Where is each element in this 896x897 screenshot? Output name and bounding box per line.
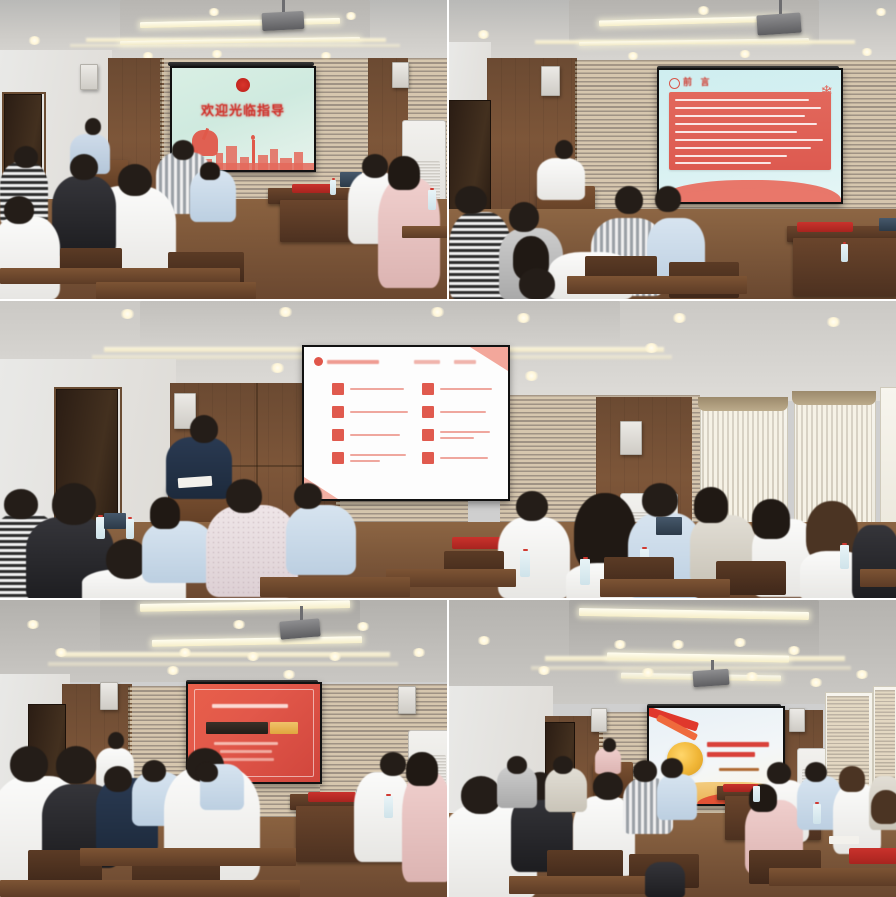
water-bottle	[428, 190, 436, 210]
laptop	[656, 517, 682, 535]
slide-title: 欢迎光临指导	[172, 100, 314, 119]
panel-top-left: 欢迎光临指导	[0, 0, 447, 299]
photo-collage: 欢迎光临指导	[0, 0, 896, 897]
wall-speaker-icon	[392, 62, 409, 88]
slide-agenda-text: 前 言 ❄	[659, 70, 841, 202]
wall-speaker-icon	[541, 66, 560, 96]
party-emblem-icon	[236, 78, 250, 92]
ceiling-projector-icon	[262, 11, 305, 31]
slide-title-banner	[206, 722, 268, 734]
panel-top-right: 前 言 ❄	[449, 0, 896, 299]
water-bottle	[813, 804, 821, 824]
laptop	[104, 513, 126, 529]
slide-two-column-bullets	[304, 347, 508, 499]
panel-bottom-left	[0, 600, 447, 897]
red-cloth-on-desk	[797, 222, 853, 232]
ceiling-projector-icon	[692, 669, 729, 687]
wall-speaker-icon	[80, 64, 98, 90]
slide-highlight-box	[270, 722, 298, 734]
wall-speaker-icon	[100, 682, 118, 710]
slide-text-block	[669, 92, 831, 170]
laptop	[879, 218, 896, 231]
wall-speaker-icon	[591, 708, 607, 732]
wall-speaker-icon	[398, 686, 416, 714]
presenter-head	[85, 118, 101, 135]
panel-bottom-right	[449, 600, 896, 897]
panel-middle-wide	[0, 301, 896, 598]
projector-mount	[300, 606, 303, 620]
curtain-valance	[792, 391, 876, 405]
water-bottle	[841, 244, 848, 262]
water-bottle	[330, 180, 336, 195]
water-bottle	[753, 786, 760, 802]
water-bottle	[384, 796, 393, 818]
red-cloth-on-desk	[849, 848, 896, 864]
wall-speaker-icon	[620, 421, 642, 455]
wall-speaker-icon	[789, 708, 805, 732]
water-bottle	[520, 551, 530, 577]
red-cloth-on-desk	[308, 792, 356, 802]
projector-screen: 前 言 ❄	[657, 68, 843, 204]
water-bottle	[580, 559, 590, 585]
water-bottle	[840, 545, 849, 569]
ceiling-projector-icon	[756, 12, 801, 35]
curtain-valance	[698, 397, 788, 411]
ceiling-projector-icon	[279, 618, 320, 639]
water-bottle	[126, 519, 134, 539]
documents	[829, 836, 859, 844]
slide-heading: 前 言	[683, 75, 713, 88]
projector-screen	[302, 345, 510, 501]
